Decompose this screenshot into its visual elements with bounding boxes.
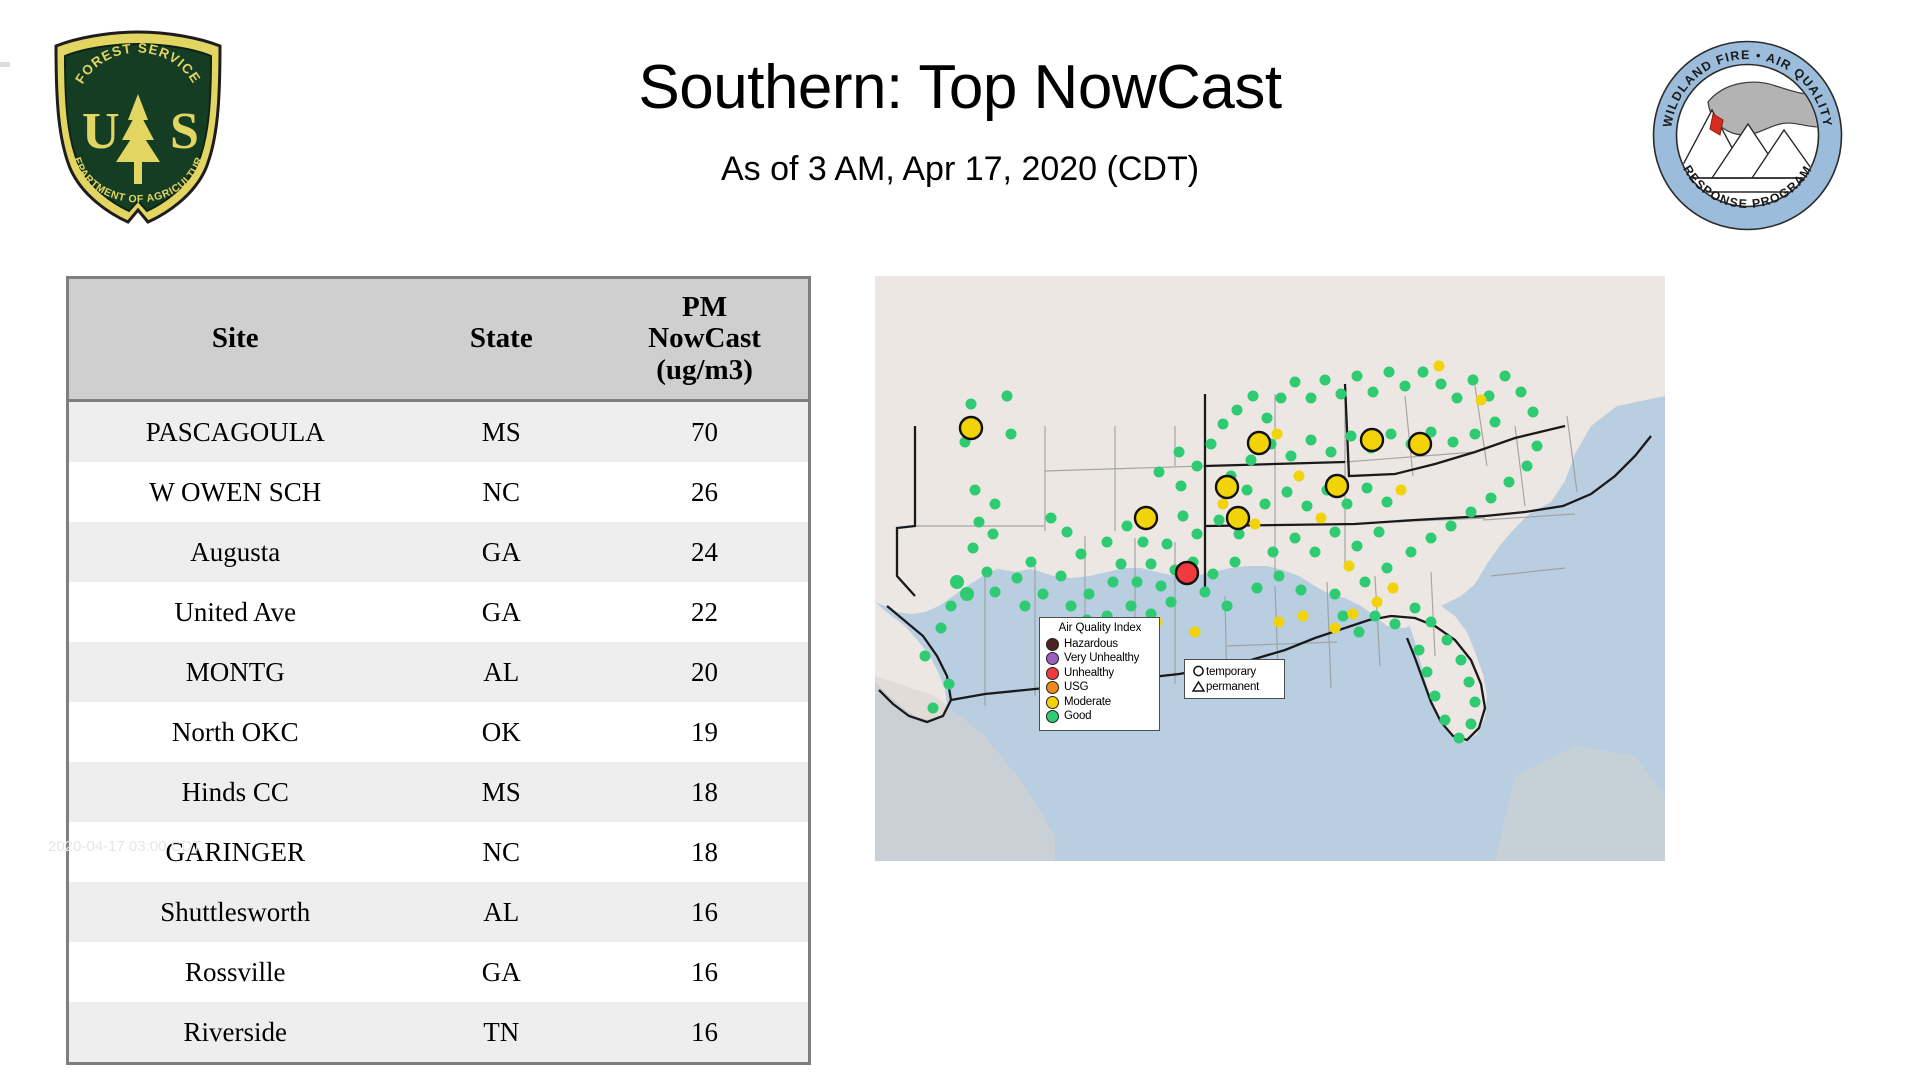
aqi-color-swatch-icon — [1046, 681, 1059, 694]
cell-pm-nowcast: 26 — [601, 462, 808, 522]
cell-pm-nowcast: 18 — [601, 762, 808, 822]
table-row: United AveGA22 — [69, 582, 808, 642]
footer-timestamp: 2020-04-17 03:00 CDT — [48, 838, 201, 855]
pm-header-line-2: NowCast — [648, 322, 761, 354]
cell-state: NC — [402, 462, 602, 522]
table-row: RiversideTN16 — [69, 1002, 808, 1062]
cell-site: Shuttlesworth — [69, 882, 402, 942]
aqi-legend-title: Air Quality Index — [1046, 622, 1154, 634]
page-subtitle: As of 3 AM, Apr 17, 2020 (CDT) — [0, 150, 1920, 189]
table-row: AugustaGA24 — [69, 522, 808, 582]
legend-label-permanent: permanent — [1206, 681, 1259, 693]
temporary-circle-icon — [1190, 665, 1206, 678]
cell-pm-nowcast: 20 — [601, 642, 808, 702]
cell-state: MS — [402, 401, 602, 463]
aqi-legend-label: Good — [1064, 711, 1091, 722]
page-title: Southern: Top NowCast — [0, 52, 1920, 123]
cell-pm-nowcast: 16 — [601, 882, 808, 942]
table-row: PASCAGOULAMS70 — [69, 401, 808, 463]
legend-item-temporary: temporary — [1190, 664, 1280, 679]
cell-state: AL — [402, 642, 602, 702]
table-row: MONTGAL20 — [69, 642, 808, 702]
legend-label-temporary: temporary — [1206, 666, 1256, 678]
pm-header-line-1: PM — [682, 291, 727, 323]
cell-pm-nowcast: 70 — [601, 401, 808, 463]
aqi-color-swatch-icon — [1046, 667, 1059, 680]
cell-pm-nowcast: 18 — [601, 822, 808, 882]
aqi-legend-item: Unhealthy — [1046, 666, 1154, 681]
aqi-color-swatch-icon — [1046, 696, 1059, 709]
cell-state: GA — [402, 522, 602, 582]
table-row: W OWEN SCHNC26 — [69, 462, 808, 522]
aqi-legend-label: Moderate — [1064, 697, 1111, 708]
column-header-site: Site — [69, 279, 402, 401]
aqi-legend-item: USG — [1046, 681, 1154, 696]
cell-site: Hinds CC — [69, 762, 402, 822]
legend-item-permanent: permanent — [1190, 679, 1280, 694]
cell-pm-nowcast: 19 — [601, 702, 808, 762]
aqi-legend-item: Good — [1046, 710, 1154, 725]
cell-state: GA — [402, 942, 602, 1002]
cell-pm-nowcast: 16 — [601, 942, 808, 1002]
permanent-triangle-icon — [1190, 680, 1206, 693]
cell-state: MS — [402, 762, 602, 822]
cell-pm-nowcast: 24 — [601, 522, 808, 582]
cell-site: MONTG — [69, 642, 402, 702]
cell-state: AL — [402, 882, 602, 942]
cell-site: United Ave — [69, 582, 402, 642]
table-row: RossvilleGA16 — [69, 942, 808, 1002]
column-header-state: State — [402, 279, 602, 401]
cell-site: North OKC — [69, 702, 402, 762]
top-nowcast-table: Site State PM NowCast (ug/m3) PASCAGOULA… — [66, 276, 811, 1065]
table-row: ShuttlesworthAL16 — [69, 882, 808, 942]
aqi-color-swatch-icon — [1046, 652, 1059, 665]
table-header-row: Site State PM NowCast (ug/m3) — [69, 279, 808, 401]
cell-state: GA — [402, 582, 602, 642]
cell-site: Rossville — [69, 942, 402, 1002]
aqi-legend-item: Very Unhealthy — [1046, 652, 1154, 667]
cell-state: NC — [402, 822, 602, 882]
aqi-color-swatch-icon — [1046, 710, 1059, 723]
cell-site: Augusta — [69, 522, 402, 582]
cell-site: PASCAGOULA — [69, 401, 402, 463]
air-quality-monitor-map[interactable]: Air Quality Index HazardousVery Unhealth… — [875, 276, 1665, 861]
pm-header-line-3: (ug/m3) — [656, 354, 753, 386]
table-row: North OKCOK19 — [69, 702, 808, 762]
nowcast-table: Site State PM NowCast (ug/m3) PASCAGOULA… — [69, 279, 808, 1062]
cell-state: OK — [402, 702, 602, 762]
aqi-legend-label: USG — [1064, 682, 1088, 693]
column-header-pm-nowcast: PM NowCast (ug/m3) — [601, 279, 808, 401]
cell-state: TN — [402, 1002, 602, 1062]
aqi-legend-item: Moderate — [1046, 695, 1154, 710]
cell-site: W OWEN SCH — [69, 462, 402, 522]
aqi-legend-label: Very Unhealthy — [1064, 653, 1139, 664]
cell-pm-nowcast: 22 — [601, 582, 808, 642]
cell-site: Riverside — [69, 1002, 402, 1062]
table-row: Hinds CCMS18 — [69, 762, 808, 822]
table-body: PASCAGOULAMS70W OWEN SCHNC26AugustaGA24U… — [69, 401, 808, 1063]
aqi-legend-label: Hazardous — [1064, 639, 1118, 650]
aqi-color-swatch-icon — [1046, 638, 1059, 651]
cell-pm-nowcast: 16 — [601, 1002, 808, 1062]
monitor-symbol-legend: temporary permanent — [1184, 659, 1285, 699]
aqi-legend-items: HazardousVery UnhealthyUnhealthyUSGModer… — [1046, 637, 1154, 724]
aqi-legend: Air Quality Index HazardousVery Unhealth… — [1039, 617, 1160, 731]
aqi-legend-label: Unhealthy — [1064, 668, 1114, 679]
aqi-legend-item: Hazardous — [1046, 637, 1154, 652]
